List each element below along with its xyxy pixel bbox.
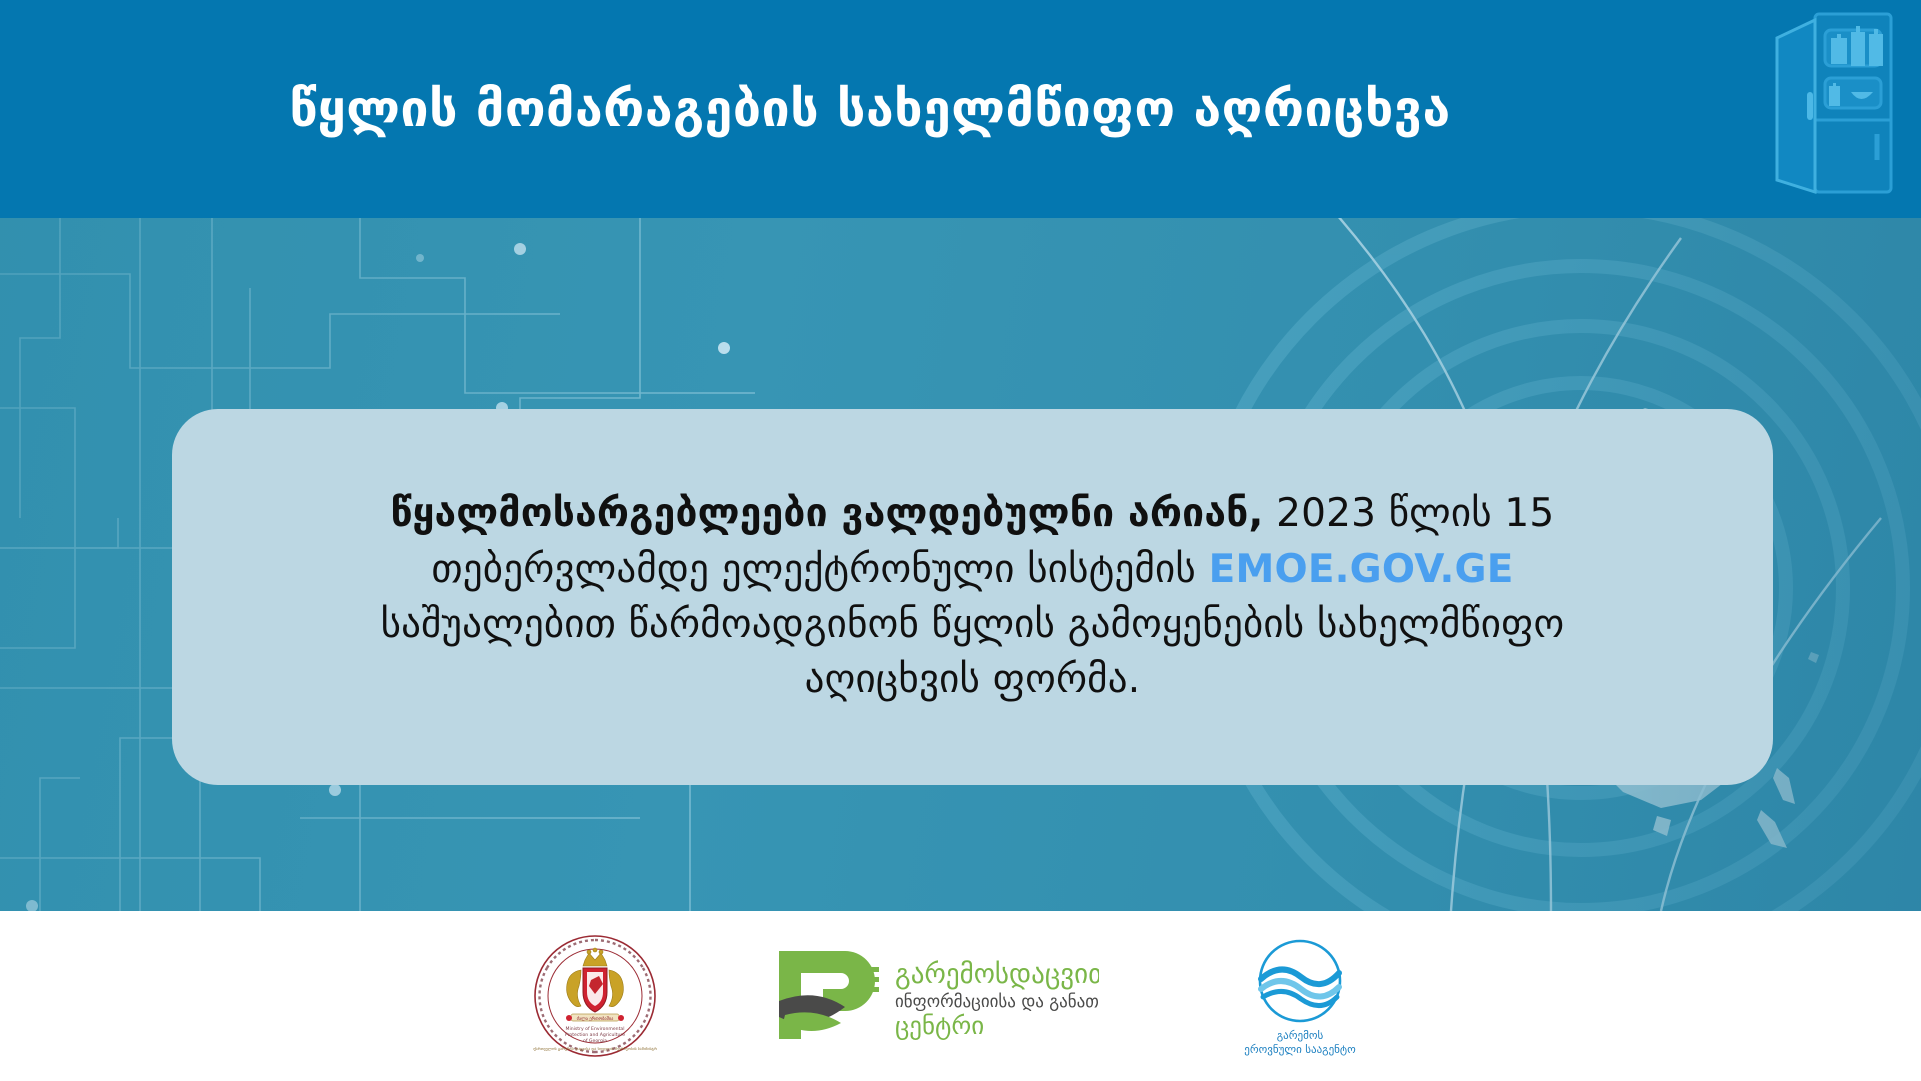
nea-line1: გარემოს: [1276, 1029, 1323, 1042]
refrigerator-with-bottles-icon: [1769, 8, 1899, 198]
ministry-seal-motto: ძალა ერთობაშია: [576, 1015, 614, 1022]
national-environmental-agency-logo: გარემოს ეროვნული სააგენტო: [1211, 935, 1389, 1057]
ministry-of-environment-georgia-logo: ძალა ერთობაშია Ministry of Environmental…: [533, 934, 657, 1058]
announcement-body-2: საშუალებით წარმოადგინონ წყლის გამოყენები…: [381, 602, 1565, 702]
nea-line2: ეროვნული სააგენტო: [1244, 1043, 1356, 1056]
eiec-line3: ცენტრი: [895, 1011, 984, 1040]
eiec-line2: ინფორმაციისა და განათლების: [895, 992, 1099, 1012]
ministry-caption-line3: of Georgia: [583, 1038, 607, 1044]
poster-header: წყლის მომარაგების სახელმწიფო აღრიცხვა: [0, 0, 1921, 218]
emoe-link[interactable]: EMOE.GOV.GE: [1209, 547, 1514, 592]
announcement-text: წყალმოსარგებლეები ვალდებულნი არიან, 2023…: [308, 486, 1638, 708]
poster-footer: ძალა ერთობაშია Ministry of Environmental…: [0, 911, 1921, 1081]
ministry-caption-line2: Protection and Agriculture: [564, 1032, 624, 1038]
eiec-line1: გარემოსდაცვითი: [895, 959, 1099, 990]
environmental-information-education-center-logo: გარემოსდაცვითი ინფორმაციისა და განათლები…: [769, 941, 1099, 1051]
ministry-caption-georgian: საქართველოს გარემოს დაცვისა და სოფლის მე…: [533, 1046, 657, 1051]
announcement-lead: წყალმოსარგებლეები ვალდებულნი არიან,: [391, 491, 1264, 536]
ministry-caption-line1: Ministry of Environmental: [565, 1026, 624, 1032]
announcement-card: წყალმოსარგებლეები ვალდებულნი არიან, 2023…: [172, 409, 1773, 785]
poster-root: წყლის მომარაგების სახელმწიფო აღრიცხვა: [0, 0, 1921, 1081]
page-title: წყლის მომარაგების სახელმწიფო აღრიცხვა: [0, 0, 1760, 218]
